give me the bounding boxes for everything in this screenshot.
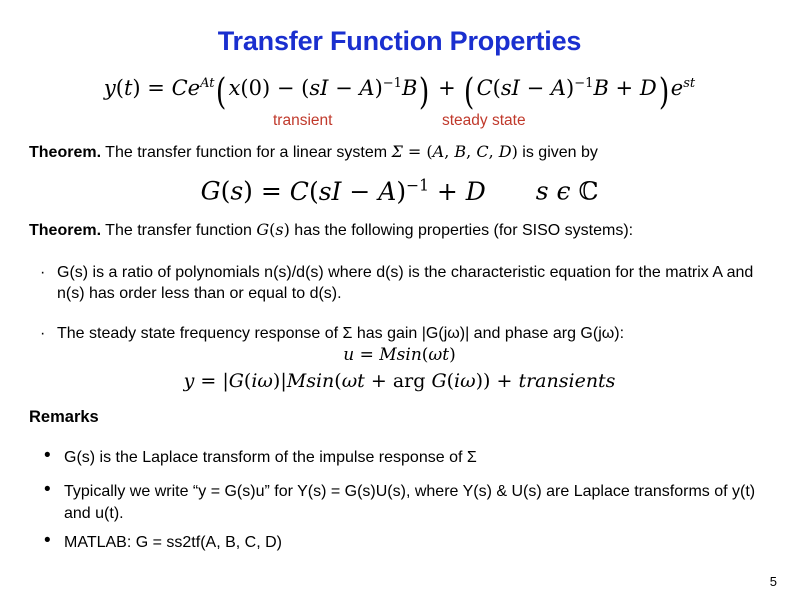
annotation-steady-state: steady state: [442, 112, 526, 130]
remark-item-text: MATLAB: G = ss2tf(A, B, C, D): [64, 532, 764, 554]
bullet-marker-icon: ·: [40, 262, 45, 283]
theorem-one-label: Theorem.: [29, 144, 101, 161]
property-item-text: The steady state frequency response of Σ…: [57, 323, 766, 344]
page-title: Transfer Function Properties: [0, 26, 799, 57]
bullet-marker-icon: •: [44, 479, 51, 501]
page-number: 5: [770, 574, 777, 589]
transfer-function-equation: G(s) = C(sI − A)−1 + D s ϵ ℂ: [0, 176, 799, 206]
equals-sign: =: [147, 76, 165, 100]
remarks-heading: Remarks: [29, 408, 99, 427]
list-item: • MATLAB: G = ss2tf(A, B, C, D): [44, 532, 764, 554]
main-equation-lhs: y: [104, 76, 116, 100]
annotation-transient: transient: [273, 112, 332, 130]
equation-annotations: transient steady state: [0, 112, 799, 132]
property-item-text: G(s) is a ratio of polynomials n(s)/d(s)…: [57, 262, 766, 304]
theorem-two-function: G(s): [256, 220, 290, 239]
gs-domain: s ϵ ℂ: [536, 177, 599, 206]
remark-item-text: G(s) is the Laplace transform of the imp…: [64, 447, 764, 469]
theorem-two-text: The transfer function: [101, 222, 256, 239]
input-signal-equation: u = Msin(ωt): [0, 345, 799, 365]
list-item: · The steady state frequency response of…: [40, 323, 766, 344]
list-item: • Typically we write “y = G(s)u” for Y(s…: [44, 481, 764, 525]
list-item: · G(s) is a ratio of polynomials n(s)/d(…: [40, 262, 766, 304]
theorem-two-label: Theorem.: [29, 222, 101, 239]
list-item: • G(s) is the Laplace transform of the i…: [44, 447, 764, 469]
theorem-two: Theorem. The transfer function G(s) has …: [29, 220, 633, 240]
main-equation-transient-term: CeAt(x(0) − (sI − A)−1B): [172, 76, 432, 100]
bullet-marker-icon: •: [44, 445, 51, 467]
gs-rhs: C(sI − A)−1 + D: [290, 177, 486, 206]
theorem-two-tail: has the following properties (for SISO s…: [290, 222, 633, 239]
bullet-marker-icon: •: [44, 530, 51, 552]
theorem-one-system: Σ = (A, B, C, D): [392, 142, 518, 161]
output-signal-equation: y = |G(iω)|Msin(ωt + arg G(iω)) + transi…: [0, 370, 799, 392]
theorem-one: Theorem. The transfer function for a lin…: [29, 142, 598, 162]
theorem-one-tail: is given by: [518, 144, 598, 161]
main-equation-steady-term: (C(sI − A)−1B + D)est: [462, 76, 695, 100]
bullet-marker-icon: ·: [40, 323, 45, 344]
slide-canvas: Transfer Function Properties y(t) = CeAt…: [0, 0, 799, 599]
gs-lhs: G(s): [201, 177, 253, 206]
remark-item-text: Typically we write “y = G(s)u” for Y(s) …: [64, 481, 764, 525]
theorem-one-text: The transfer function for a linear syste…: [101, 144, 392, 161]
main-equation: y(t) = CeAt(x(0) − (sI − A)−1B) + (C(sI …: [0, 76, 799, 100]
